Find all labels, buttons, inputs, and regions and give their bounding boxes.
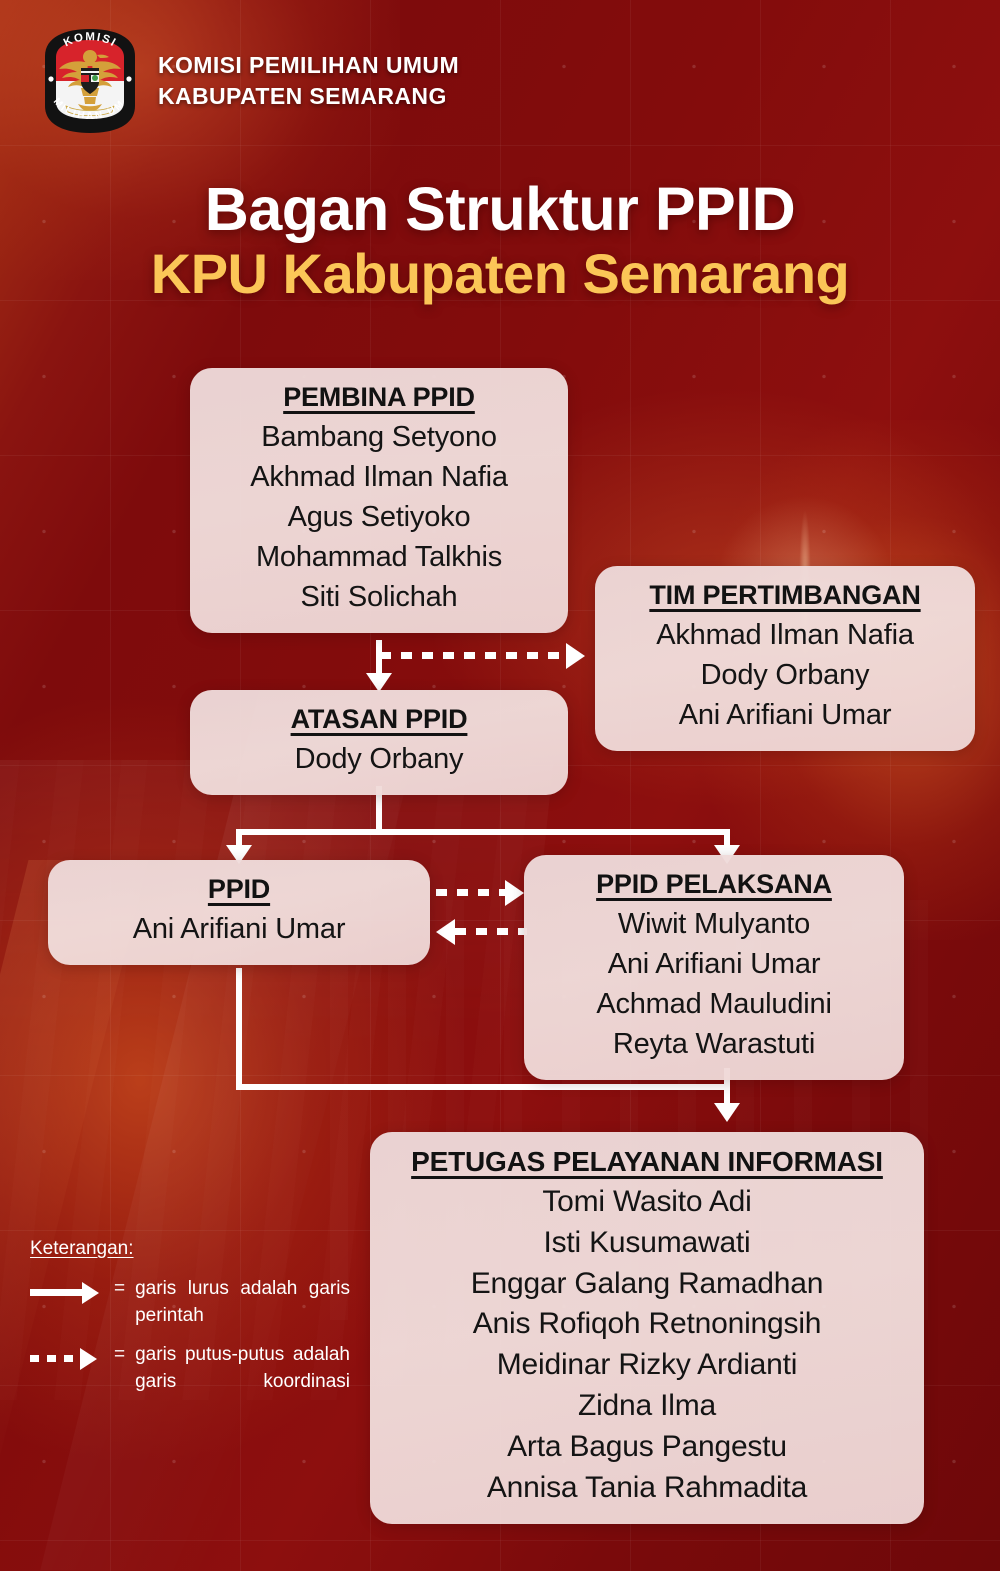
legend-text: garis lurus adalah garis perintah — [135, 1276, 350, 1330]
node-title: PPID PELAKSANA — [540, 869, 888, 900]
node-title: PEMBINA PPID — [206, 382, 552, 413]
node-member: Agus Setiyoko — [206, 497, 552, 537]
connector-atasan-split-bar — [236, 829, 730, 835]
node-member: Reyta Warastuti — [540, 1024, 888, 1064]
node-title: ATASAN PPID — [206, 704, 552, 735]
node-member: Annisa Tania Rahmadita — [386, 1468, 908, 1509]
title-line-1: Bagan Struktur PPID — [0, 178, 1000, 240]
dotted-arrow-icon — [30, 1346, 104, 1372]
node-member: Meidinar Rizky Ardianti — [386, 1345, 908, 1386]
legend-title: Keterangan: — [30, 1238, 350, 1260]
legend-row: = garis lurus adalah garis perintah — [30, 1276, 350, 1330]
node-pembina-ppid[interactable]: PEMBINA PPID Bambang Setyono Akhmad Ilma… — [190, 368, 568, 633]
connector-ppid-across-line — [236, 1084, 730, 1090]
legend: Keterangan: = garis lurus adalah garis p… — [30, 1238, 350, 1408]
node-member: Tomi Wasito Adi — [386, 1182, 908, 1223]
brand-line-2: KABUPATEN SEMARANG — [158, 83, 459, 110]
poster-header: KOMISI PEMILIHAN UMUM KOMISI PEMILIHAN U… — [40, 26, 459, 136]
connector-ppid-down-line — [236, 968, 242, 1090]
connector-ppid-to-pelaksana-arrow — [505, 880, 524, 906]
node-member: Zidna Ilma — [386, 1386, 908, 1427]
connector-pembina-to-tim-dotted — [380, 652, 568, 659]
legend-equals: = — [114, 1342, 125, 1369]
solid-arrow-icon — [30, 1280, 104, 1306]
node-title: PETUGAS PELAYANAN INFORMASI — [386, 1146, 908, 1178]
brand-text: KOMISI PEMILIHAN UMUM KABUPATEN SEMARANG — [158, 52, 459, 110]
connector-pelaksana-to-ppid-arrow — [436, 919, 455, 945]
node-member: Enggar Galang Ramadhan — [386, 1264, 908, 1305]
connector-pelaksana-to-ppid-dotted — [455, 928, 527, 935]
node-member: Isti Kusumawati — [386, 1223, 908, 1264]
kpu-logo-icon: KOMISI PEMILIHAN UMUM — [40, 26, 140, 136]
legend-row: = garis putus-putus adalah garis koordin… — [30, 1342, 350, 1396]
legend-text: garis putus-putus adalah garis koordinas… — [135, 1342, 350, 1396]
connector-pembina-to-tim-arrow — [566, 643, 585, 669]
connector-ppid-to-pelaksana-dotted — [436, 889, 508, 896]
node-member: Ani Arifiani Umar — [611, 695, 959, 735]
brand-line-1: KOMISI PEMILIHAN UMUM — [158, 52, 459, 79]
node-petugas-pelayanan-informasi[interactable]: PETUGAS PELAYANAN INFORMASI Tomi Wasito … — [370, 1132, 924, 1524]
connector-to-petugas-arrow — [714, 1103, 740, 1122]
node-member: Ani Arifiani Umar — [540, 944, 888, 984]
node-member: Dody Orbany — [206, 739, 552, 779]
node-member: Mohammad Talkhis — [206, 537, 552, 577]
page-title: Bagan Struktur PPID KPU Kabupaten Semara… — [0, 178, 1000, 304]
node-atasan-ppid[interactable]: ATASAN PPID Dody Orbany — [190, 690, 568, 795]
node-ppid-pelaksana[interactable]: PPID PELAKSANA Wiwit Mulyanto Ani Arifia… — [524, 855, 904, 1080]
node-title: PPID — [64, 874, 414, 905]
node-member: Siti Solichah — [206, 577, 552, 617]
node-member: Anis Rofiqoh Retnoningsih — [386, 1304, 908, 1345]
poster-root: KOMISI PEMILIHAN UMUM KOMISI PEMILIHAN U… — [0, 0, 1000, 1571]
node-ppid[interactable]: PPID Ani Arifiani Umar — [48, 860, 430, 965]
node-member: Akhmad Ilman Nafia — [611, 615, 959, 655]
node-tim-pertimbangan[interactable]: TIM PERTIMBANGAN Akhmad Ilman Nafia Dody… — [595, 566, 975, 751]
node-title: TIM PERTIMBANGAN — [611, 580, 959, 611]
node-member: Dody Orbany — [611, 655, 959, 695]
legend-equals: = — [114, 1276, 125, 1303]
node-member: Achmad Mauludini — [540, 984, 888, 1024]
node-member: Bambang Setyono — [206, 417, 552, 457]
node-member: Ani Arifiani Umar — [64, 909, 414, 949]
node-member: Akhmad Ilman Nafia — [206, 457, 552, 497]
title-line-2: KPU Kabupaten Semarang — [0, 244, 1000, 303]
node-member: Arta Bagus Pangestu — [386, 1427, 908, 1468]
node-member: Wiwit Mulyanto — [540, 904, 888, 944]
background-streak-b — [0, 860, 149, 1570]
